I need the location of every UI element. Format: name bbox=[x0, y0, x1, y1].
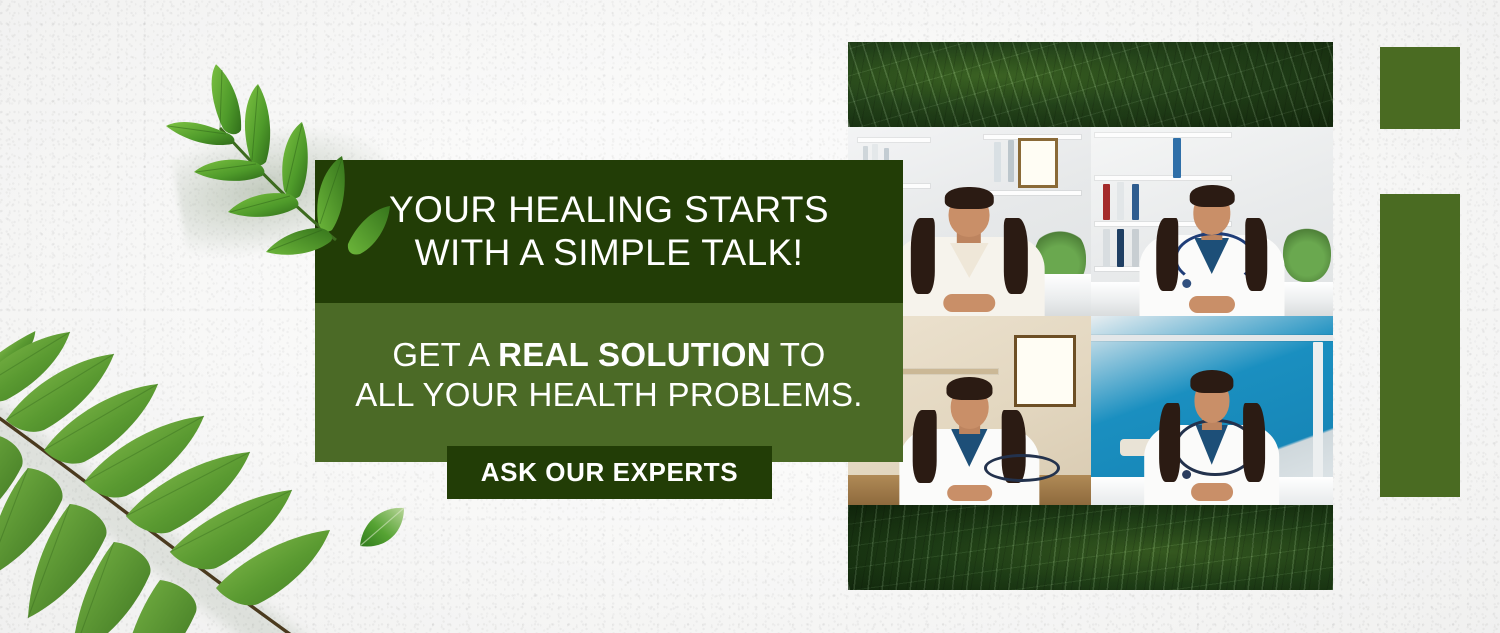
hero-banner: YOUR HEALING STARTS WITH A SIMPLE TALK! … bbox=[0, 0, 1500, 633]
photo-grid bbox=[848, 127, 1333, 505]
headline-line-1: YOUR HEALING STARTS bbox=[389, 189, 829, 230]
subheadline-line-2: ALL YOUR HEALTH PROBLEMS. bbox=[355, 375, 863, 415]
leaf-texture-strip-top bbox=[848, 42, 1333, 127]
doctor-portrait-4 bbox=[1091, 316, 1334, 505]
doctor-portrait-2 bbox=[1091, 127, 1334, 316]
accent-square bbox=[1380, 47, 1460, 129]
headline-line-2: WITH A SIMPLE TALK! bbox=[389, 232, 829, 275]
subheadline-emphasis: REAL SOLUTION bbox=[498, 336, 771, 373]
leaf-texture-strip-bottom bbox=[848, 505, 1333, 590]
doctor-photo-collage bbox=[848, 42, 1333, 590]
ask-our-experts-button[interactable]: ASK OUR EXPERTS bbox=[447, 446, 772, 499]
subheadline-suffix: TO bbox=[771, 336, 826, 373]
page-title: YOUR HEALING STARTS WITH A SIMPLE TALK! bbox=[371, 189, 847, 275]
cta-label: ASK OUR EXPERTS bbox=[481, 457, 739, 488]
subheadline-prefix: GET A bbox=[392, 336, 498, 373]
subheadline-panel: GET A REAL SOLUTION TO ALL YOUR HEALTH P… bbox=[315, 303, 903, 462]
headline-panel: YOUR HEALING STARTS WITH A SIMPLE TALK! bbox=[315, 160, 903, 303]
accent-bar bbox=[1380, 194, 1460, 497]
subheadline: GET A REAL SOLUTION TO ALL YOUR HEALTH P… bbox=[345, 303, 873, 416]
